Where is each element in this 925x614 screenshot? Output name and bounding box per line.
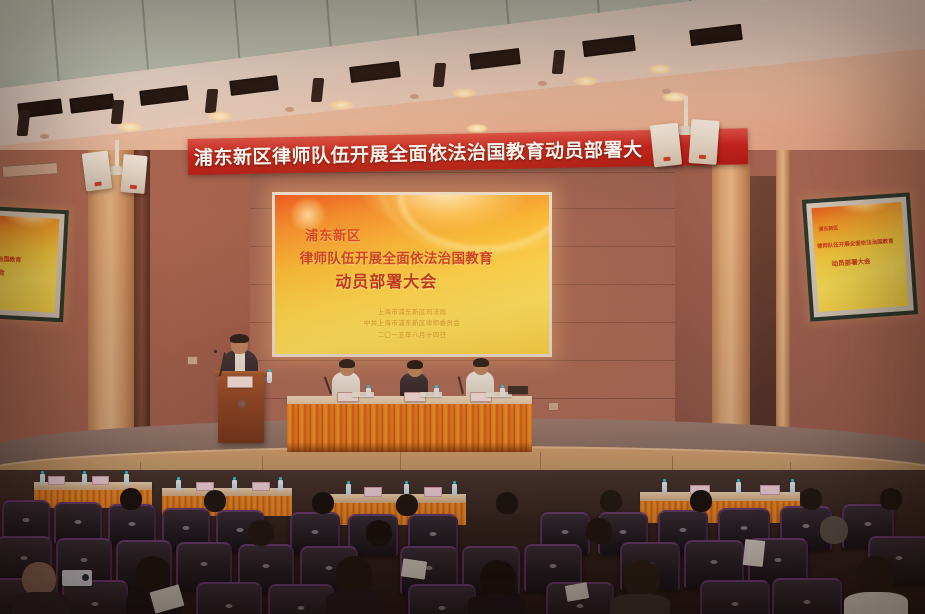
head-table-document (352, 392, 374, 397)
side-right-line-1: 浦东新区 (818, 224, 838, 232)
side-left-line-3: 大会 (0, 267, 5, 278)
audience-seat (268, 584, 334, 614)
audience-camera-lens-icon (82, 574, 89, 581)
side-slide-right: 浦东新区 律师队伍开展全面依法治国教育 动员部署大会 (811, 202, 908, 312)
slide-line-3: 动员部署大会 (335, 268, 437, 292)
audience-shoulders (468, 594, 526, 614)
speaker-brand-badge-icon (699, 155, 706, 159)
front-desk-water-bottle (278, 480, 283, 491)
presenter-hair (230, 334, 249, 343)
smoke-detector-icon (410, 94, 419, 99)
pa-speaker-left-b (120, 154, 147, 194)
audience-head (204, 490, 226, 512)
audience-head-foreground (136, 556, 170, 592)
speaker-mount-pole (684, 96, 688, 128)
projected-slide: 浦东新区 律师队伍开展全面依法治国教育 动员部署大会 上海市浦东新区司法局 中共… (275, 195, 549, 354)
pa-speaker-right-b (688, 119, 719, 165)
audience-seat (700, 580, 770, 614)
side-screen-right: 浦东新区 律师队伍开展全面依法治国教育 动员部署大会 (802, 192, 918, 321)
audience-head (120, 488, 142, 510)
audience-seat (196, 582, 262, 614)
audience-head-foreground (22, 562, 56, 596)
smoke-detector-icon (285, 107, 294, 112)
audience-head (880, 488, 902, 510)
wall-recess-left (134, 150, 150, 450)
audience-head (586, 518, 612, 544)
front-desk-namecard (760, 485, 780, 495)
speaker-brand-badge-icon (663, 157, 670, 162)
pa-speaker-left-a (82, 151, 112, 192)
side-right-line-2: 律师队伍开展全面依法治国教育 (817, 237, 894, 250)
panelist-3-hair (473, 358, 489, 367)
front-desk-namecard (364, 487, 382, 497)
slide-subtitle-3: 二〇一五年八月十四日 (275, 329, 549, 339)
audience-head-foreground (480, 560, 516, 598)
side-screen-left: 法治国教育 大会 (0, 206, 69, 322)
smoke-detector-icon (40, 134, 49, 139)
panelist-1-hair (339, 359, 355, 368)
front-desk-water-bottle (662, 482, 667, 493)
main-projection-screen: 浦东新区 律师队伍开展全面依法治国教育 动员部署大会 上海市浦东新区司法局 中共… (272, 192, 552, 357)
slide-glow-ring-icon (379, 195, 549, 254)
speaker-brand-badge-icon (130, 185, 137, 190)
audience-head (312, 492, 334, 514)
front-desk-water-bottle (40, 474, 45, 485)
slide-subtitle-1: 上海市浦东新区司法局 (275, 306, 549, 316)
front-desk-water-bottle (124, 474, 129, 485)
wood-pillar-far-right (776, 150, 790, 450)
audience-head (396, 494, 418, 516)
front-desk-water-bottle (452, 484, 457, 495)
audience-head (496, 492, 518, 514)
audience-head (800, 488, 822, 510)
audience-handout (401, 558, 427, 579)
downlight (118, 122, 142, 132)
doorway-right (750, 176, 776, 426)
side-right-line-3: 动员部署大会 (831, 255, 871, 268)
audience-seat (408, 584, 476, 614)
wall-outlet (187, 356, 198, 365)
head-table-folder (508, 386, 528, 394)
audience-seat (772, 578, 842, 614)
audience-head (366, 520, 392, 546)
podium-nameplate (227, 376, 253, 388)
audience-head (600, 490, 622, 512)
audience-shoulders (12, 592, 70, 614)
speaker-bracket (110, 166, 122, 175)
audience-head (820, 516, 848, 544)
audience-shoulders (610, 594, 670, 614)
smoke-detector-icon (538, 81, 547, 86)
podium-emblem-icon (236, 398, 248, 410)
slide-subtitle-2: 中共上海市浦东新区律师委员会 (275, 317, 549, 327)
audience-handout (743, 539, 766, 567)
downlight (208, 111, 232, 121)
auditorium-photo: 浦东新区律师队伍开展全面依法治国教育动员部署大 浦东新区 律师队伍开展全面依法治… (0, 0, 925, 614)
slide-line-1: 浦东新区 (305, 225, 361, 244)
front-desk-water-bottle (790, 482, 795, 493)
downlight (466, 124, 488, 133)
audience-shoulders (844, 592, 908, 614)
smoke-detector-icon (662, 89, 671, 94)
front-desk-water-bottle (736, 482, 741, 493)
audience-head-foreground (624, 560, 660, 598)
pa-speaker-right-a (650, 123, 682, 168)
panelist-2-hair (407, 360, 423, 369)
front-desk-namecard (48, 476, 65, 485)
downlight (574, 76, 598, 86)
wood-pillar-right (712, 152, 750, 442)
head-table-document (420, 392, 442, 397)
downlight (330, 100, 354, 110)
speaker-bracket (679, 126, 691, 135)
front-desk-namecard (252, 482, 270, 491)
front-desk-water-bottle (176, 480, 181, 491)
podium-water-bottle (267, 372, 272, 383)
front-desk-water-bottle (82, 474, 87, 485)
audience-head-foreground (856, 556, 894, 596)
audience-head (690, 490, 712, 512)
speaker-mount-pole (115, 140, 119, 168)
podium-microphone-head (214, 350, 217, 353)
front-desk-namecard (424, 487, 442, 497)
audience-head-foreground (336, 556, 372, 594)
wood-pillar-left (88, 150, 134, 450)
side-left-line-2: 法治国教育 (0, 253, 22, 264)
wall-outlet (548, 402, 559, 411)
front-desk-namecard (92, 476, 109, 485)
head-table-skirt (287, 404, 532, 452)
audience-head (248, 520, 274, 546)
audience-shoulders (326, 590, 384, 614)
speaker-brand-badge-icon (94, 182, 101, 187)
side-slide-left: 法治国教育 大会 (0, 215, 59, 313)
front-desk-water-bottle (232, 480, 237, 491)
downlight (452, 88, 476, 98)
downlight (648, 64, 672, 74)
front-desk-water-bottle (346, 484, 351, 495)
slide-line-2: 律师队伍开展全面依法治国教育 (300, 247, 493, 267)
